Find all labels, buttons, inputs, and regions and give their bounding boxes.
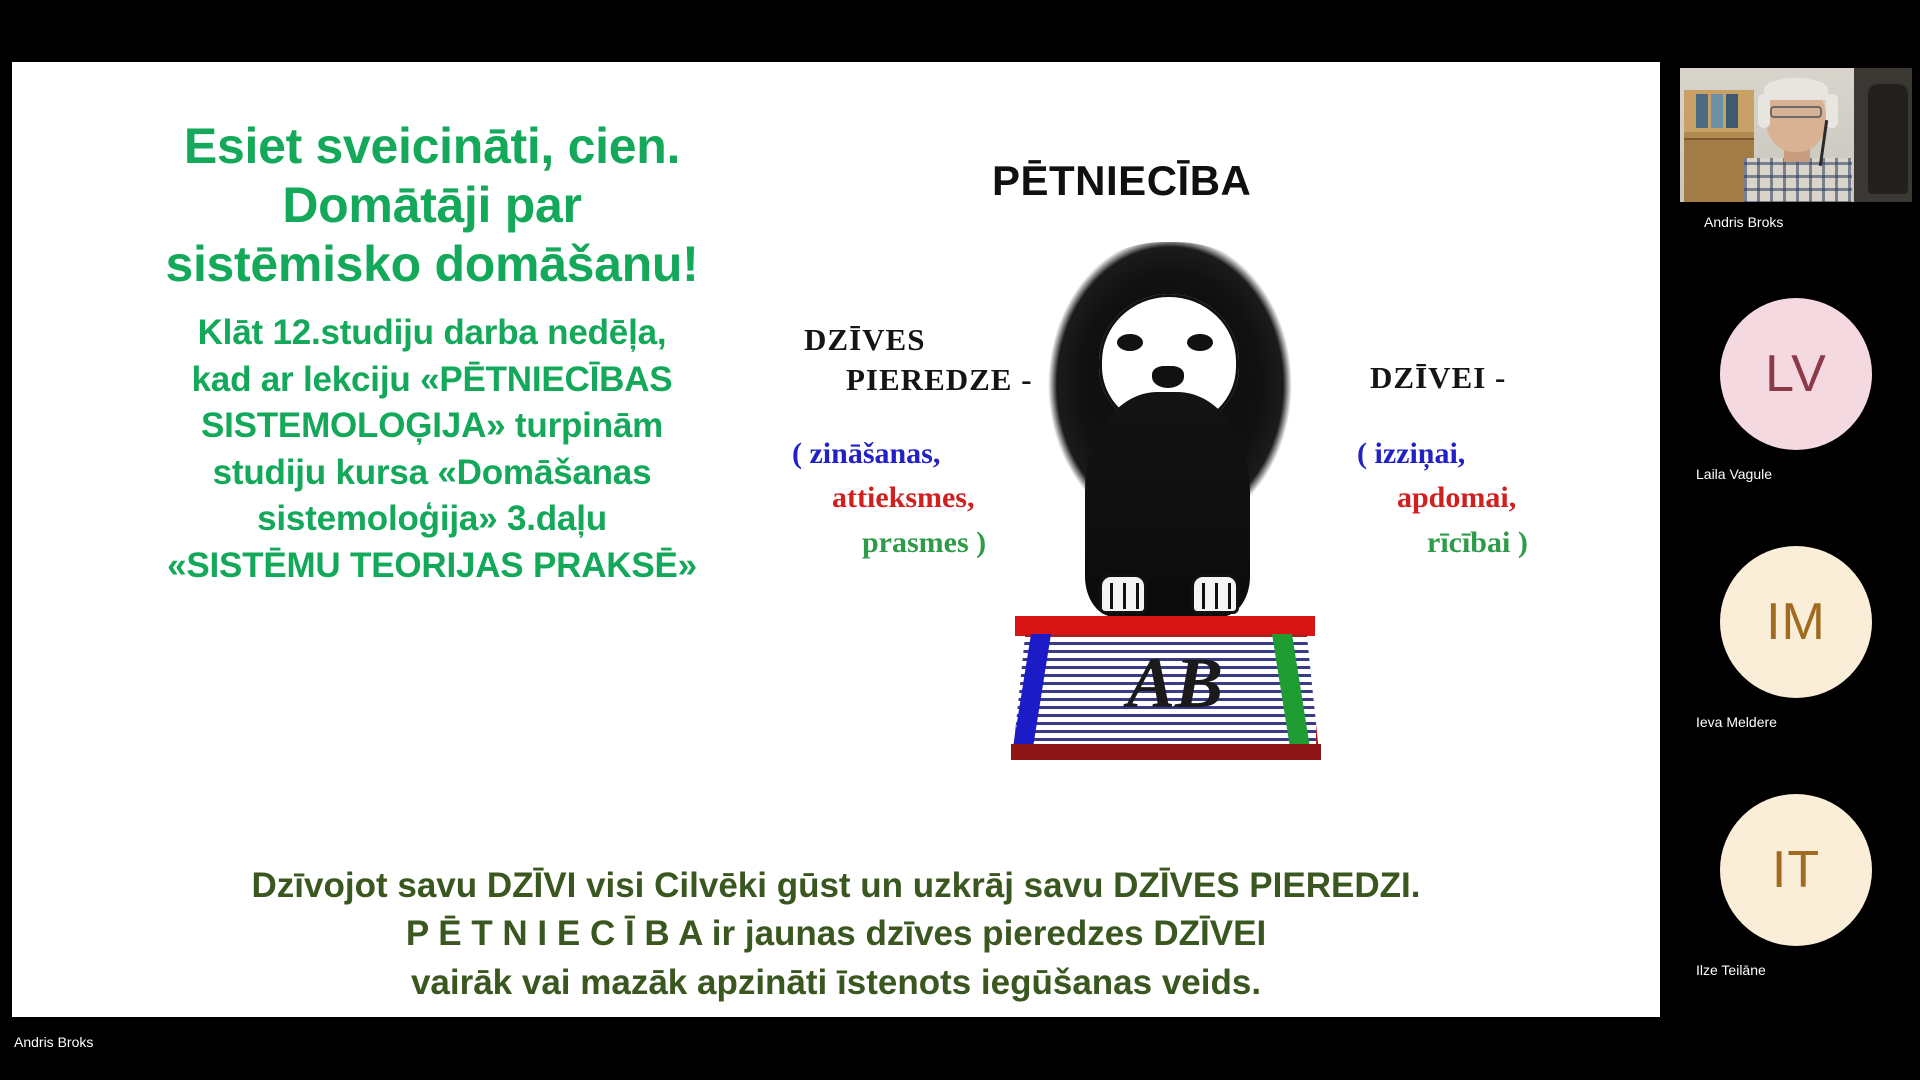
meeting-window: Esiet sveicināti, cien. Domātāji par sis… [0, 0, 1920, 1080]
diagram-left-label-line-1: DZĪVES [804, 322, 925, 358]
shared-slide: Esiet sveicināti, cien. Domātāji par sis… [12, 62, 1660, 1017]
slide-subtitle-line-2: kad ar lekciju «PĒTNIECĪBAS [72, 357, 792, 404]
webcam-video[interactable] [1680, 68, 1912, 202]
participant-name: Andris Broks [1680, 202, 1912, 230]
slide-subtitle-line-5: sistemoloģija» 3.daļu [72, 496, 792, 543]
podium-red-bar [1015, 616, 1315, 636]
slide-title: Esiet sveicināti, cien. Domātāji par sis… [72, 117, 792, 294]
active-speaker-name: Andris Broks [14, 1034, 93, 1050]
top-bar [0, 0, 1920, 62]
slide-subtitle-line-4: studiju kursa «Domāšanas [72, 450, 792, 497]
video-person-hair [1764, 78, 1828, 100]
participant-tile-ilze-teilane[interactable]: IT Ilze Teilāne [1672, 768, 1920, 1016]
participant-tile-laila-vagule[interactable]: LV Laila Vagule [1672, 272, 1920, 520]
diagram-left-label-line-2: PIEREDZE - [846, 362, 1033, 398]
research-diagram: PĒTNIECĪBA DZĪVES PIEREDZE - DZĪVEI - ( … [782, 147, 1572, 807]
participant-tile-video[interactable]: Andris Broks [1672, 62, 1920, 272]
slide-bottom-line-1: Dzīvojot savu DZĪVI visi Cilvēki gūst un… [12, 862, 1660, 910]
slide-subtitle: Klāt 12.studiju darba nedēļa, kad ar lek… [72, 310, 792, 589]
monogram: AB [1127, 642, 1223, 725]
slide-bottom-statement: Dzīvojot savu DZĪVI visi Cilvēki gūst un… [12, 862, 1660, 1007]
podium-base [1011, 744, 1321, 760]
diagram-right-item-2: apdomai, [1357, 476, 1617, 520]
diagram-right-item-3: rīcībai ) [1357, 521, 1617, 565]
slide-title-line-2: Domātāji par [72, 176, 792, 235]
lion-paw-right [1191, 574, 1239, 614]
glasses-icon [1770, 106, 1822, 118]
avatar: LV [1720, 298, 1872, 450]
diagram-right-label: DZĪVEI - [1370, 360, 1506, 396]
video-binder [1696, 94, 1708, 128]
slide-title-line-1: Esiet sveicināti, cien. [72, 117, 792, 176]
video-binder [1726, 94, 1738, 128]
slide-bottom-line-3: vairāk vai mazāk apzināti īstenots iegūš… [12, 959, 1660, 1007]
participant-name: Laila Vagule [1672, 450, 1920, 482]
headphone-left-icon [1758, 94, 1770, 128]
slide-subtitle-line-6: «SISTĒMU TEORIJAS PRAKSĒ» [72, 543, 792, 590]
lion-eye-left [1117, 334, 1143, 351]
participant-name: Ilze Teilāne [1672, 946, 1920, 978]
slide-subtitle-line-3: SISTEMOLOĢIJA» turpinām [72, 403, 792, 450]
lion-eye-right [1187, 334, 1213, 351]
diagram-right-items: ( izziņai, apdomai, rīcībai ) [1357, 432, 1617, 565]
video-coat [1868, 84, 1908, 194]
diagram-heading: PĒTNIECĪBA [992, 157, 1251, 205]
slide-title-line-3: sistēmisko domāšanu! [72, 235, 792, 294]
slide-bottom-line-2: P Ē T N I E C Ī B A ir jaunas dzīves pie… [12, 910, 1660, 958]
lion-illustration: AB [1007, 242, 1327, 672]
participant-tile-ieva-meldere[interactable]: IM Ieva Meldere [1672, 520, 1920, 768]
avatar: IT [1720, 794, 1872, 946]
slide-left-column: Esiet sveicināti, cien. Domātāji par sis… [72, 117, 792, 589]
video-binder [1711, 94, 1723, 128]
lion-paw-left [1099, 574, 1147, 614]
slide-subtitle-line-1: Klāt 12.studiju darba nedēļa, [72, 310, 792, 357]
participant-name: Ieva Meldere [1672, 698, 1920, 730]
participant-rail[interactable]: Andris Broks LV Laila Vagule IM Ieva Mel… [1672, 62, 1920, 1017]
diagram-right-item-1: ( izziņai, [1357, 432, 1617, 476]
video-person-shirt [1744, 158, 1852, 202]
lion-nose [1152, 366, 1184, 388]
presenter-strip: Andris Broks [0, 1018, 1920, 1080]
avatar: IM [1720, 546, 1872, 698]
